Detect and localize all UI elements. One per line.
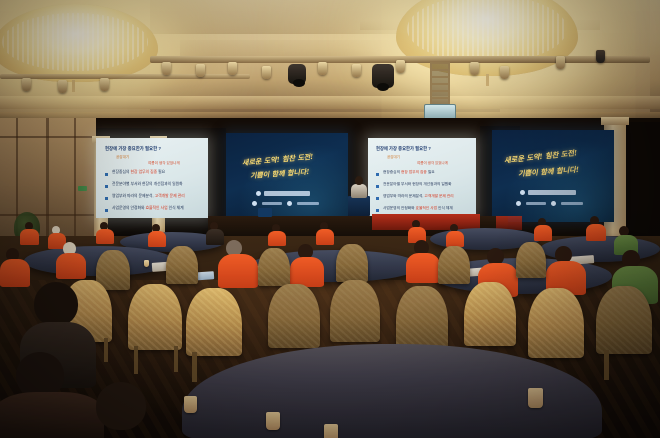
conference-hall-photo: 현장에 가장 중요한가 필요한 ? 공감대기 여름이 생각 있었나게 현장중심의…	[0, 0, 660, 438]
stage-spotlight-icon	[22, 78, 31, 91]
audience-torso	[56, 253, 86, 279]
slide-1-heading: 현장에 가장 중요한가 필요한 ?	[105, 146, 161, 152]
chair-leg	[134, 346, 138, 374]
bullet-tail: 인식 체계	[437, 206, 453, 210]
slide-4-logo-row-2	[516, 201, 583, 206]
banquet-chair	[268, 284, 320, 348]
chair-leg	[174, 346, 178, 372]
slide-1-bullet: 전문분야별 부서와 현장의 개선점과의 일원화	[112, 182, 208, 187]
stage-spotlight-icon	[470, 62, 479, 75]
sponsor-logo-3-wordmark	[561, 202, 583, 205]
banquet-chair	[336, 244, 368, 282]
slide-4-logo-row-1	[520, 190, 576, 195]
audience-torso	[534, 225, 552, 241]
projection-screen-3: 현장에 가장 중요한가 필요한 ? 공감대기 여름이 생각 있었나게 현장중심의…	[368, 138, 476, 216]
paper-cup	[144, 260, 149, 267]
bullet-highlight: 효율적인 사업	[416, 206, 437, 210]
audience-head	[96, 382, 146, 430]
slide-2-logo-row-2	[252, 201, 319, 206]
stage-spotlight-icon	[556, 56, 565, 69]
sponsor-logo-3-icon	[287, 201, 292, 206]
wall-column-capital	[601, 117, 629, 125]
podium	[348, 196, 370, 216]
stage-skirt	[372, 214, 480, 230]
bullet-highlight: 효율적인 사업	[146, 206, 168, 210]
stage-spotlight-icon	[228, 62, 237, 75]
bullet-text: 사업운영의 안정화와	[383, 206, 416, 210]
slide-3-subheading-left: 공감대기	[387, 155, 400, 160]
slide-4-calligraphy-line-2: 기쁨이 함께 합니다!	[518, 165, 580, 179]
audience-torso	[316, 229, 334, 245]
audience-torso	[268, 231, 286, 246]
banquet-chair	[596, 286, 652, 354]
slide-3-subheading-right: 여름이 생각 있었나게	[417, 161, 448, 166]
banquet-chair	[438, 246, 470, 284]
audience-torso	[206, 229, 224, 245]
banquet-chair	[330, 280, 380, 342]
slide-3-bullet: 영업부와 따라의 문제분석, 고객개발 문제 관리	[383, 194, 476, 199]
paper-cup	[266, 412, 280, 430]
slide-3-heading: 현장에 가장 중요한가 필요한 ?	[376, 146, 431, 152]
sponsor-logo-2-wordmark	[526, 202, 546, 205]
bullet-highlight: 현장 업무의 집중	[131, 170, 158, 174]
bullet-text: 사업운영의 안정화와	[112, 206, 146, 210]
stage-spotlight-icon	[58, 80, 67, 93]
slide-2-logo-row-1	[256, 191, 310, 196]
slide-3-bullet-list: 현장중심의 현장 업무의 집중 필요 전문분야별 부서와 현장의 개선점과의 일…	[368, 170, 476, 211]
bullet-highlight: 고객개발 문제 관리	[155, 194, 185, 198]
sponsor-logo-1-icon	[520, 190, 525, 195]
sponsor-logo-2-wordmark	[262, 202, 282, 205]
audience-torso	[586, 224, 606, 241]
paper-cup	[324, 424, 338, 438]
audience-torso	[0, 259, 30, 287]
sponsor-logo-1-wordmark	[264, 191, 310, 196]
banquet-chair	[396, 286, 448, 350]
bullet-text: 현장중심의	[383, 170, 401, 174]
slide-1-subheading-left: 공감대기	[116, 155, 129, 160]
audience-torso	[20, 229, 39, 245]
stage-spotlight-icon	[318, 62, 327, 75]
stage-spotlight-icon	[100, 78, 109, 91]
audience-torso	[290, 257, 324, 287]
bullet-highlight: 현장 업무의 집중	[401, 170, 427, 174]
stage-spotlight-icon	[196, 64, 205, 77]
stage-spotlight-icon	[500, 66, 509, 79]
sponsor-logo-1-wordmark	[528, 190, 576, 195]
chair-leg	[192, 352, 197, 382]
sponsor-logo-3-icon	[551, 201, 556, 206]
sponsor-logo-3-wordmark	[297, 202, 319, 205]
audience-head	[34, 282, 78, 326]
stage-spotlight-icon	[396, 60, 405, 73]
slide-3-bullet: 현장중심의 현장 업무의 집중 필요	[383, 170, 476, 175]
lighting-truss-secondary	[0, 74, 250, 79]
moving-head-light-icon	[288, 64, 306, 84]
sponsor-logo-1-icon	[256, 191, 261, 196]
banquet-chair	[516, 242, 546, 278]
moving-head-light-icon	[372, 64, 394, 88]
slide-1-bullet: 사업운영의 안정화와 효율적인 사업 인식 체계	[112, 206, 208, 211]
slide-3-bullet: 전문분야별 부서와 현장의 개선점과의 일원화	[383, 182, 476, 187]
audience-torso	[446, 231, 464, 247]
bullet-text: 영업부와 따라의 문제분석,	[112, 194, 155, 198]
slide-3-bullet: 사업운영의 안정화와 효율적인 사업 인식 체계	[383, 206, 476, 211]
bullet-tail: 인식 체계	[168, 206, 184, 210]
chair-leg	[104, 338, 108, 362]
slide-2-calligraphy-line-2: 기쁨이 함께 합니다!	[250, 167, 310, 181]
bullet-text: 현장중심의	[112, 170, 131, 174]
floor-monitor	[258, 208, 272, 217]
slide-2-calligraphy-line-1: 새로운 도약! 힘찬 도전!	[242, 152, 314, 168]
bullet-text: 전문분야별 부서와 현장의 개선점과의 일원화	[383, 182, 452, 186]
bullet-tail: 필요	[427, 170, 435, 174]
truss-ladder	[430, 62, 450, 108]
slide-1-bullet-list: 현장중심의 현장 업무의 집중 필요 전문분야별 부서와 현장의 개선점과의 일…	[96, 170, 208, 211]
presenter-head	[355, 176, 363, 185]
slide-4-calligraphy-line-1: 새로운 도약! 힘찬 도전!	[504, 148, 578, 166]
slide-1-bullet: 현장중심의 현장 업무의 집중 필요	[112, 170, 208, 175]
banquet-chair	[186, 288, 242, 356]
stage-spotlight-icon	[352, 64, 361, 77]
sponsor-logo-2-icon	[516, 201, 521, 206]
audience-torso	[406, 253, 440, 283]
projection-screen-1: 현장에 가장 중요한가 필요한 ? 공감대기 여름이 생각 있었나게 현장중심의…	[96, 138, 208, 218]
bullet-text: 전문분야별 부서와 현장의 개선점과의 일원화	[112, 182, 183, 186]
wall-dark-section	[620, 122, 660, 242]
paper-cup	[184, 396, 197, 413]
audience-torso	[0, 392, 104, 438]
slide-1-subheading-right: 여름이 생각 있었나게	[148, 161, 180, 166]
audience-torso	[148, 231, 166, 247]
presenter-body	[351, 184, 367, 198]
banquet-chair	[128, 284, 182, 350]
chair-leg	[604, 350, 609, 380]
bullet-highlight: 고객개발 문제 관리	[424, 194, 453, 198]
bullet-text: 영업부와 따라의 문제분석,	[383, 194, 424, 198]
audience-torso	[218, 254, 258, 288]
audience-torso	[96, 229, 114, 244]
stage-spotlight-icon	[596, 50, 605, 63]
right-chandelier	[396, 0, 578, 76]
banquet-chair	[166, 246, 198, 284]
stage-spotlight-icon	[262, 66, 271, 79]
bullet-tail: 필요	[157, 170, 165, 174]
banquet-chair	[258, 248, 290, 286]
exit-sign-icon	[78, 186, 87, 191]
projection-screen-2: 새로운 도약! 힘찬 도전! 기쁨이 함께 합니다!	[226, 133, 348, 221]
banquet-chair	[464, 282, 516, 346]
sponsor-logo-2-icon	[252, 201, 257, 206]
stage-spotlight-icon	[162, 62, 171, 75]
banquet-chair	[528, 288, 584, 358]
projection-screen-4: 새로운 도약! 힘찬 도전! 기쁨이 함께 합니다!	[492, 130, 614, 222]
slide-1-bullet: 영업부와 따라의 문제분석, 고객개발 문제 관리	[112, 194, 208, 199]
paper-cup	[528, 388, 543, 408]
